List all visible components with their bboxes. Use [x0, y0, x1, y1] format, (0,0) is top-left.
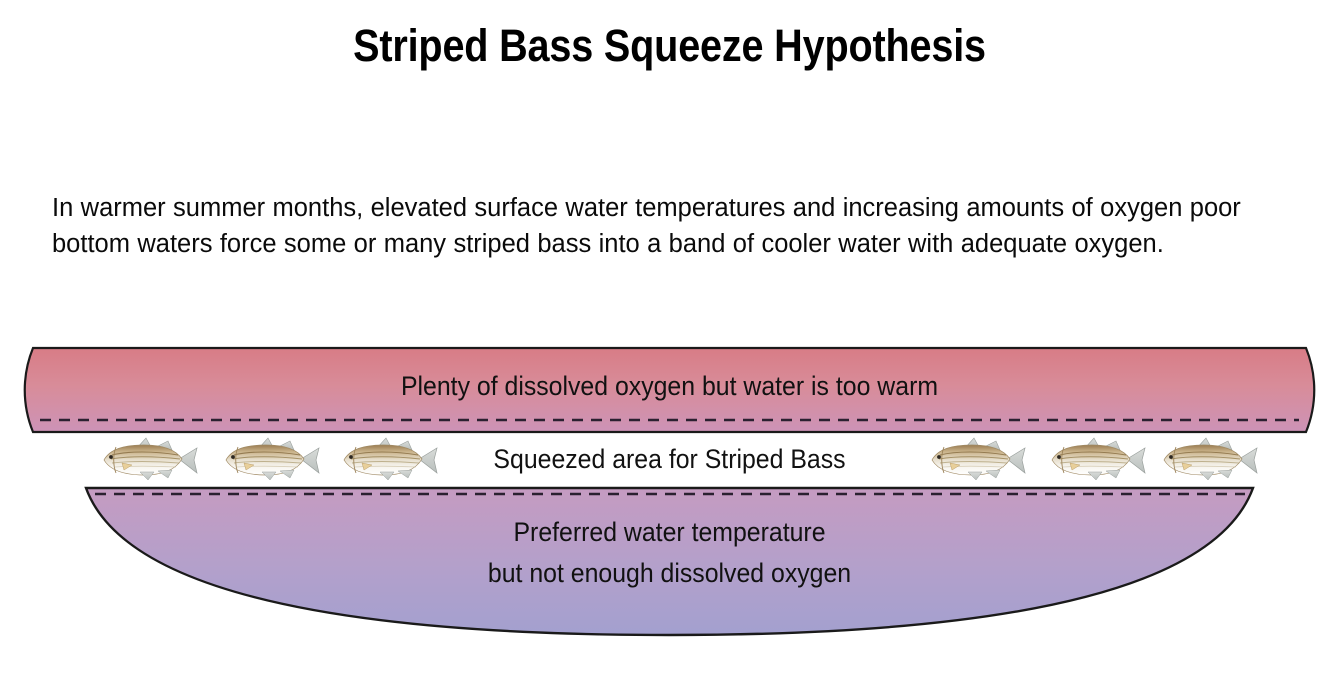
- intro-paragraph: In warmer summer months, elevated surfac…: [52, 190, 1284, 262]
- striped-bass-icon: [1044, 436, 1148, 484]
- striped-bass-icon: [218, 436, 322, 484]
- squeeze-diagram: Plenty of dissolved oxygen but water is …: [0, 330, 1339, 650]
- warm-layer-label: Plenty of dissolved oxygen but water is …: [54, 366, 1286, 406]
- striped-bass-icon: [1156, 436, 1260, 484]
- striped-bass-icon: [96, 436, 200, 484]
- striped-bass-icon: [924, 436, 1028, 484]
- cold-layer-label: Preferred water temperature but not enou…: [54, 512, 1286, 594]
- page-title: Striped Bass Squeeze Hypothesis: [80, 22, 1258, 69]
- striped-bass-icon: [336, 436, 440, 484]
